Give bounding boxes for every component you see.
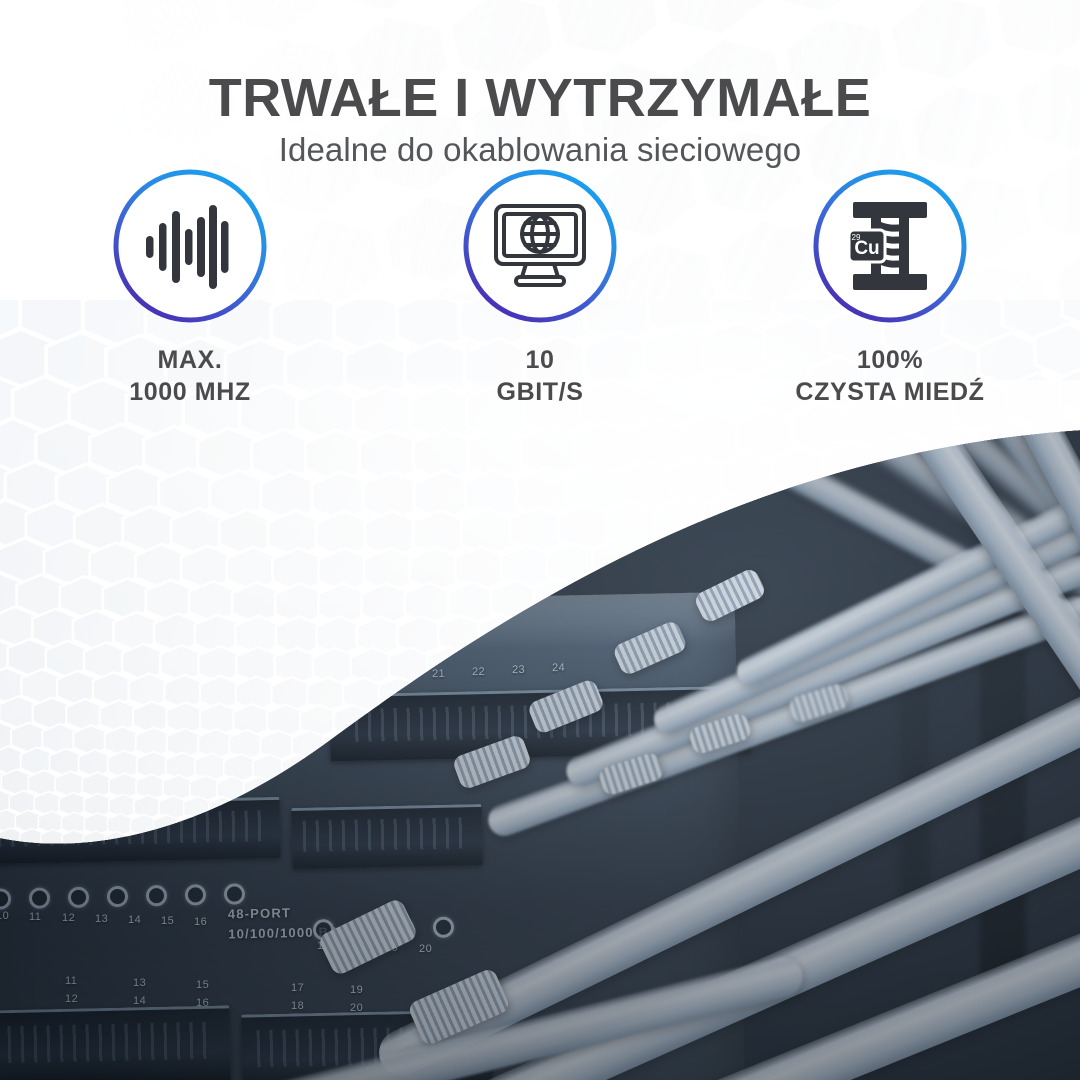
feature-label-line1: 100% bbox=[857, 346, 923, 374]
copper-atomic-number-text: 29 bbox=[852, 233, 861, 242]
waveform-icon bbox=[110, 166, 270, 326]
infographic-canvas: 19 20 21 22 23 24 10 11 12 13 14 15 16 4… bbox=[0, 0, 1080, 1080]
feature-max-frequency: MAX. 1000 MHZ bbox=[90, 166, 290, 408]
monitor-globe-icon bbox=[460, 166, 620, 326]
page-subtitle: Idealne do okablowania sieciowego bbox=[0, 131, 1080, 169]
feature-label-line2: CZYSTA MIEDŹ bbox=[795, 376, 984, 408]
page-title: TRWAŁE I WYTRZYMAŁE bbox=[0, 70, 1080, 127]
feature-label-line1: MAX. bbox=[158, 346, 223, 374]
feature-label-line2: GBIT/S bbox=[497, 376, 584, 408]
feature-throughput: 10 GBIT/S bbox=[440, 166, 640, 408]
feature-pure-copper: Cu 29 100% CZYSTA MIEDŹ bbox=[790, 166, 990, 408]
feature-icon-ring bbox=[460, 166, 620, 326]
feature-label-line2: 1000 MHZ bbox=[129, 376, 251, 408]
feature-label-line1: 10 bbox=[525, 346, 554, 374]
feature-label: 10 GBIT/S bbox=[497, 344, 584, 408]
feature-label: MAX. 1000 MHZ bbox=[129, 344, 251, 408]
feature-row: MAX. 1000 MHZ bbox=[0, 166, 1080, 408]
feature-icon-ring bbox=[110, 166, 270, 326]
copper-spool-icon: Cu 29 bbox=[810, 166, 970, 326]
feature-label: 100% CZYSTA MIEDŹ bbox=[795, 344, 984, 408]
feature-icon-ring: Cu 29 bbox=[810, 166, 970, 326]
